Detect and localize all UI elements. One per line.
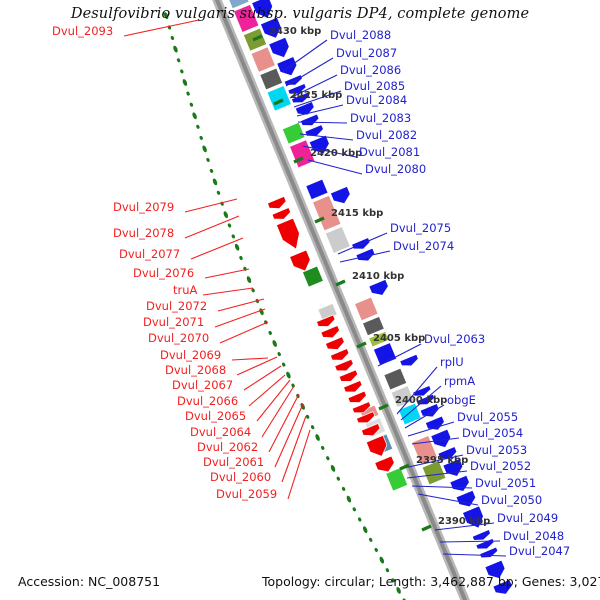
- gene-label[interactable]: Dvul_2079: [113, 200, 174, 214]
- gene-label[interactable]: Dvul_2049: [497, 511, 558, 525]
- page-title: Desulfovibrio vulgaris subsp. vulgaris D…: [0, 6, 600, 22]
- scale-tick-label: 2405 kbp: [373, 333, 425, 344]
- scale-tick-label: 2400 kbp: [395, 395, 447, 406]
- accession-text: Accession: NC_008751: [18, 574, 160, 589]
- gene-label[interactable]: Dvul_2048: [503, 529, 564, 543]
- status-bar: Accession: NC_008751 Topology: circular;…: [0, 574, 600, 592]
- gene-label[interactable]: rplU: [440, 355, 464, 369]
- gene-label[interactable]: Dvul_2053: [466, 443, 527, 457]
- gene-label[interactable]: rpmA: [444, 374, 475, 388]
- gene-label[interactable]: Dvul_2071: [143, 315, 204, 329]
- gene-label[interactable]: Dvul_2059: [216, 487, 277, 501]
- gene-label[interactable]: Dvul_2083: [350, 111, 411, 125]
- gene-label[interactable]: Dvul_2075: [390, 221, 451, 235]
- gene-label[interactable]: Dvul_2087: [336, 46, 397, 60]
- gene-label[interactable]: Dvul_2067: [172, 378, 233, 392]
- scale-tick-label: 2430 kbp: [269, 26, 321, 37]
- gene-label[interactable]: Dvul_2068: [165, 363, 226, 377]
- gene-label[interactable]: Dvul_2050: [481, 493, 542, 507]
- gene-label[interactable]: Dvul_2062: [197, 440, 258, 454]
- gene-label[interactable]: Dvul_2065: [185, 409, 246, 423]
- gene-label[interactable]: Dvul_2069: [160, 348, 221, 362]
- scale-tick-label: 2410 kbp: [352, 271, 404, 282]
- gene-label[interactable]: Dvul_2080: [365, 162, 426, 176]
- scale-tick-label: 2390 kbp: [438, 516, 490, 527]
- topology-text: Topology: circular; Length: 3,462,887 bp…: [262, 574, 600, 589]
- scale-tick-label: 2420 kbp: [310, 148, 362, 159]
- gene-label[interactable]: Dvul_2088: [330, 28, 391, 42]
- gene-label[interactable]: Dvul_2063: [424, 332, 485, 346]
- gene-label[interactable]: Dvul_2052: [470, 459, 531, 473]
- gene-label[interactable]: Dvul_2074: [393, 239, 454, 253]
- gene-label[interactable]: Dvul_2078: [113, 226, 174, 240]
- gene-label[interactable]: Dvul_2077: [119, 247, 180, 261]
- gene-label[interactable]: Dvul_2086: [340, 63, 401, 77]
- gene-label[interactable]: Dvul_2066: [177, 394, 238, 408]
- gene-label[interactable]: Dvul_2076: [133, 266, 194, 280]
- gene-label[interactable]: Dvul_2054: [462, 426, 523, 440]
- gene-label[interactable]: Dvul_2093: [52, 24, 113, 38]
- scale-tick-label: 2425 kbp: [290, 90, 342, 101]
- gene-label[interactable]: Dvul_2055: [457, 410, 518, 424]
- gene-label[interactable]: Dvul_2060: [210, 470, 271, 484]
- gene-label[interactable]: truA: [173, 283, 197, 297]
- gene-label[interactable]: Dvul_2064: [190, 425, 251, 439]
- scale-tick-label: 2395 kbp: [416, 455, 468, 466]
- gene-label[interactable]: Dvul_2081: [359, 145, 420, 159]
- gene-label[interactable]: Dvul_2072: [146, 299, 207, 313]
- gene-label[interactable]: Dvul_2082: [356, 128, 417, 142]
- gene-label[interactable]: obgE: [447, 393, 476, 407]
- gene-label[interactable]: Dvul_2085: [344, 79, 405, 93]
- gene-label[interactable]: Dvul_2051: [475, 476, 536, 490]
- gene-label[interactable]: Dvul_2047: [509, 544, 570, 558]
- gene-label[interactable]: Dvul_2061: [203, 455, 264, 469]
- gene-label[interactable]: Dvul_2084: [346, 93, 407, 107]
- gene-label[interactable]: Dvul_2070: [148, 331, 209, 345]
- scale-tick-label: 2415 kbp: [331, 208, 383, 219]
- genome-map-viewer: Desulfovibrio vulgaris subsp. vulgaris D…: [0, 0, 600, 600]
